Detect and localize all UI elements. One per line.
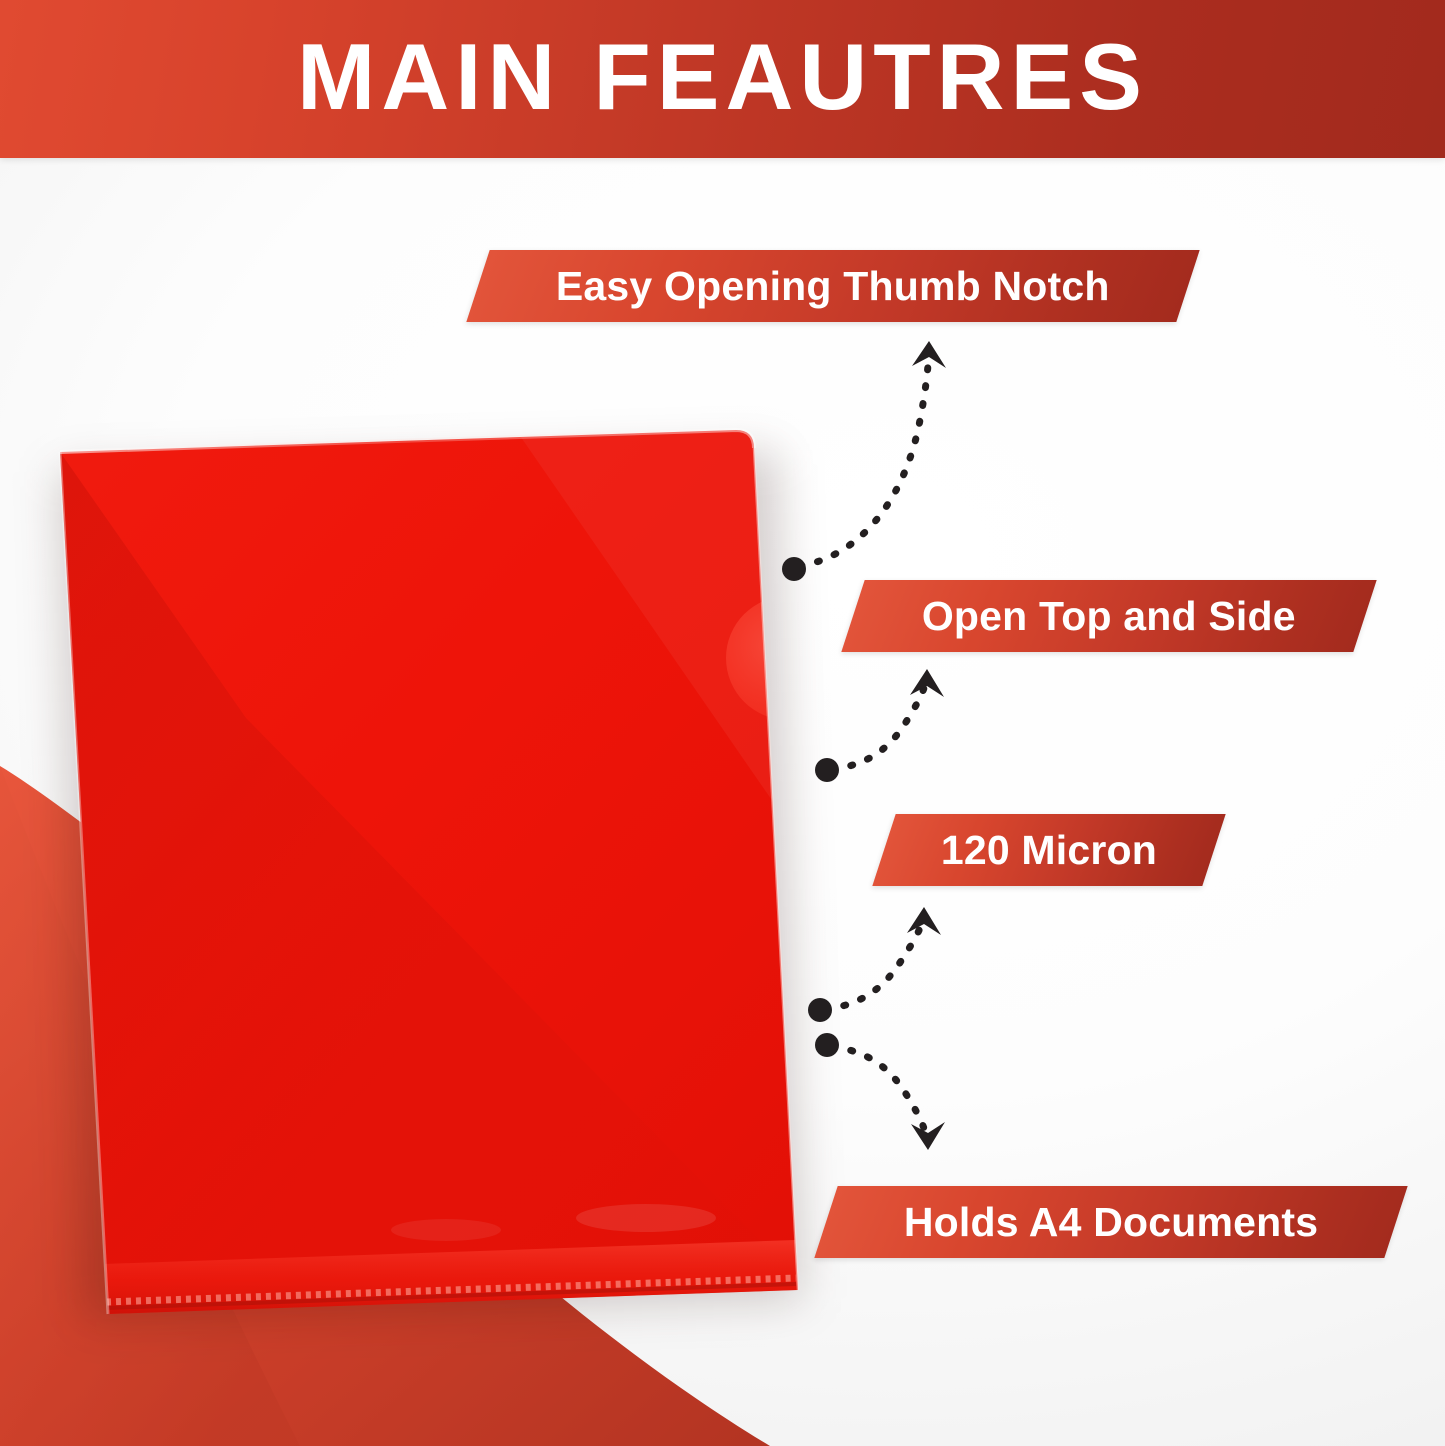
label-text: Open Top and Side: [922, 593, 1296, 640]
label-120-micron[interactable]: 120 Micron: [872, 814, 1225, 886]
infographic-canvas: MAIN FEAUTRES: [0, 0, 1445, 1446]
folder-gloss-spot-left: [391, 1219, 501, 1241]
label-holds-a4-documents[interactable]: Holds A4 Documents: [814, 1186, 1407, 1258]
product-image: [46, 418, 826, 1318]
header-bar: MAIN FEAUTRES: [0, 0, 1445, 158]
folder-gloss-spot-right: [576, 1204, 716, 1232]
page-title: MAIN FEAUTRES: [297, 30, 1148, 124]
label-text: 120 Micron: [941, 827, 1157, 874]
label-text: Holds A4 Documents: [904, 1199, 1318, 1246]
label-easy-opening-thumb-notch[interactable]: Easy Opening Thumb Notch: [466, 250, 1199, 322]
label-text: Easy Opening Thumb Notch: [556, 263, 1110, 310]
label-open-top-and-side[interactable]: Open Top and Side: [841, 580, 1376, 652]
folder-illustration: [46, 418, 826, 1318]
